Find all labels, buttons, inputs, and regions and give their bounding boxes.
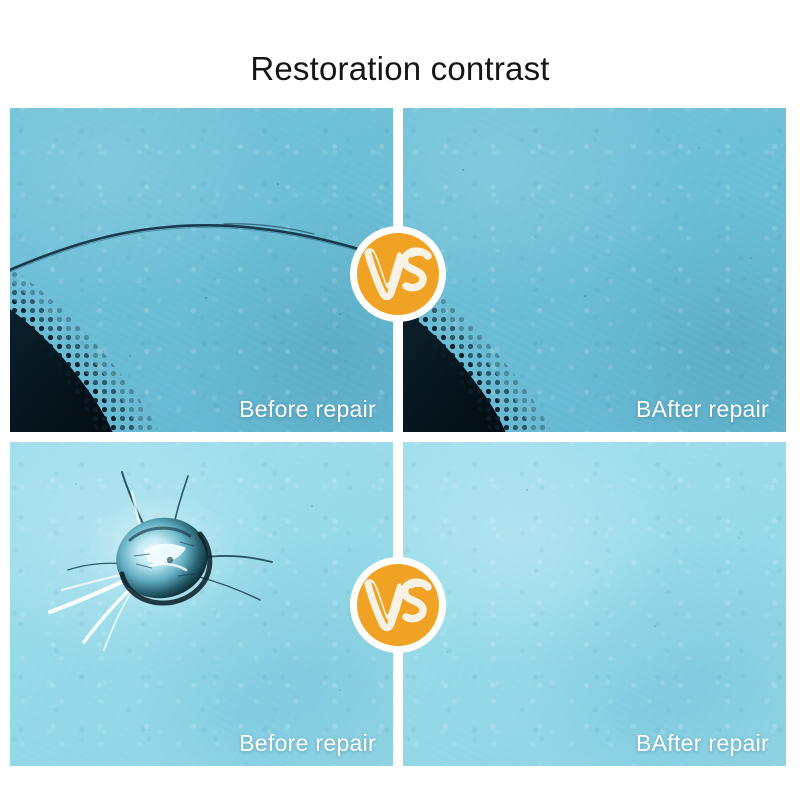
vs-badge-chip [350,557,446,653]
comparison-grid: Before repair [10,108,786,766]
panel-chip-before[interactable]: Before repair [10,442,393,766]
stone-chip-damage-graphic [10,442,393,766]
windshield-glass-image [10,442,393,766]
restoration-contrast-page: Restoration contrast [0,0,800,800]
vs-brush-text [361,575,435,635]
windshield-glass-image [403,442,786,766]
caption-before-repair-chip: Before repair [239,730,376,757]
panel-chip-after[interactable]: BAfter repair [403,442,786,766]
vs-brush-text [361,244,435,304]
caption-after-repair-crack: BAfter repair [636,396,769,423]
vs-badge-crack [350,226,446,322]
repaired-glass-graphic [403,442,786,766]
crack-and-edge-graphic [10,108,393,432]
panel-crack-before[interactable]: Before repair [10,108,393,432]
caption-after-repair-chip: BAfter repair [636,730,769,757]
panel-crack-after[interactable]: BAfter repair [403,108,786,432]
repaired-glass-edge-graphic [403,108,786,432]
windshield-glass-image [10,108,393,432]
page-title: Restoration contrast [0,49,800,89]
windshield-glass-image [403,108,786,432]
caption-before-repair-crack: Before repair [239,396,376,423]
